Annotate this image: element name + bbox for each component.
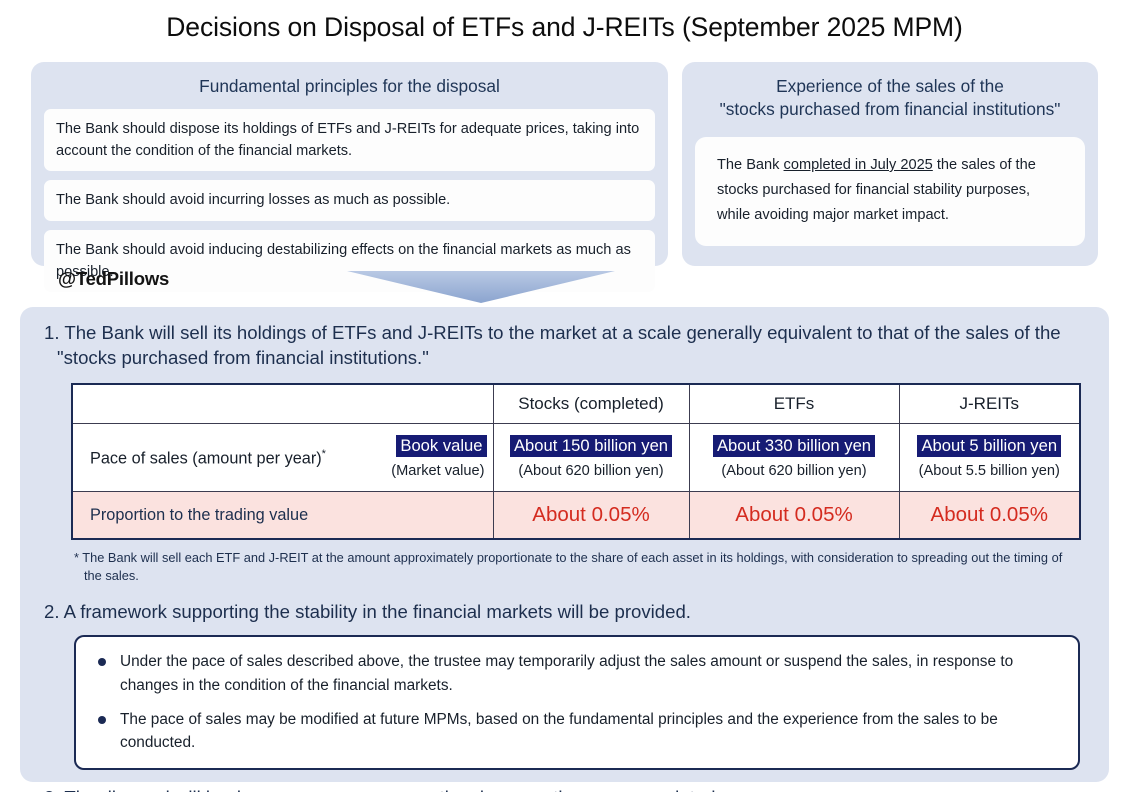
principle-card-2: The Bank should avoid incurring losses a… xyxy=(44,180,655,220)
pace-cell-stocks: About 150 billion yen (About 620 billion… xyxy=(493,424,689,492)
table-footnote: * The Bank will sell each ETF and J-REIT… xyxy=(74,549,1074,586)
framework-bullet-2-text: The pace of sales may be modified at fut… xyxy=(120,708,1058,756)
pace-cell-etfs: About 330 billion yen (About 620 billion… xyxy=(689,424,899,492)
book-value-highlight: Book value xyxy=(396,435,486,458)
pace-label-asterisk: * xyxy=(322,448,326,460)
table-header-blank xyxy=(72,384,493,424)
main-decisions-panel: 1. The Bank will sell its holdings of ET… xyxy=(20,307,1109,782)
bullet-dot-icon xyxy=(98,716,106,724)
top-panels-row: Fundamental principles for the disposal … xyxy=(31,62,1098,266)
table-header-jreits: J-REITs xyxy=(899,384,1080,424)
slide-canvas: Decisions on Disposal of ETFs and J-REIT… xyxy=(0,0,1129,792)
experience-heading-line1: Experience of the sales of the xyxy=(776,76,1004,96)
framework-bullet-1: Under the pace of sales described above,… xyxy=(98,650,1058,698)
pace-etfs-market-value: (About 620 billion yen) xyxy=(690,463,899,480)
table-row-proportion: Proportion to the trading value About 0.… xyxy=(72,492,1080,539)
proportion-etfs-value: About 0.05% xyxy=(689,492,899,539)
proportion-jreits-value: About 0.05% xyxy=(899,492,1080,539)
pace-etfs-book-value: About 330 billion yen xyxy=(713,435,875,458)
fundamental-principles-panel: Fundamental principles for the disposal … xyxy=(31,62,668,266)
pace-jreits-book-value: About 5 billion yen xyxy=(917,435,1061,458)
experience-of-sales-panel: Experience of the sales of the "stocks p… xyxy=(682,62,1098,266)
table-header-stocks: Stocks (completed) xyxy=(493,384,689,424)
proportion-stocks-value: About 0.05% xyxy=(493,492,689,539)
pace-stocks-market-value: (About 620 billion yen) xyxy=(494,463,689,480)
table-header-etfs: ETFs xyxy=(689,384,899,424)
framework-bullet-box: Under the pace of sales described above,… xyxy=(74,635,1080,771)
experience-heading-line2: "stocks purchased from financial institu… xyxy=(720,99,1061,119)
table-row-pace-of-sales: Pace of sales (amount per year)* Book va… xyxy=(72,424,1080,492)
pace-of-sales-label: Pace of sales (amount per year)* xyxy=(90,448,326,468)
book-market-value-stack: Book value (Market value) xyxy=(391,435,486,481)
down-arrow-icon xyxy=(347,269,615,303)
experience-card: The Bank completed in July 2025 the sale… xyxy=(695,137,1085,246)
proportion-label: Proportion to the trading value xyxy=(72,492,493,539)
table-header-row: Stocks (completed) ETFs J-REITs xyxy=(72,384,1080,424)
decision-item-2: 2. A framework supporting the stability … xyxy=(44,600,1085,625)
decision-item-1: 1. The Bank will sell its holdings of ET… xyxy=(44,321,1085,371)
pace-label-text: Pace of sales (amount per year) xyxy=(90,449,322,467)
pace-stocks-book-value: About 150 billion yen xyxy=(510,435,672,458)
principle-card-1: The Bank should dispose its holdings of … xyxy=(44,109,655,171)
framework-bullet-1-text: Under the pace of sales described above,… xyxy=(120,650,1058,698)
pace-jreits-market-value: (About 5.5 billion yen) xyxy=(900,463,1080,480)
pace-of-sales-label-cell: Pace of sales (amount per year)* Book va… xyxy=(72,424,493,492)
experience-heading: Experience of the sales of the "stocks p… xyxy=(695,75,1085,121)
page-title: Decisions on Disposal of ETFs and J-REIT… xyxy=(0,12,1129,43)
watermark-handle: @TedPillows xyxy=(58,268,169,290)
experience-text-underlined: completed in July 2025 xyxy=(784,157,933,173)
sales-pace-table: Stocks (completed) ETFs J-REITs Pace of … xyxy=(71,383,1081,540)
experience-text-pre: The Bank xyxy=(717,157,784,173)
bullet-dot-icon xyxy=(98,658,106,666)
decision-item-3: 3. The disposal will begin once necessar… xyxy=(44,786,1085,792)
fundamental-principles-heading: Fundamental principles for the disposal xyxy=(44,75,655,98)
pace-cell-jreits: About 5 billion yen (About 5.5 billion y… xyxy=(899,424,1080,492)
market-value-sublabel: (Market value) xyxy=(391,463,486,480)
framework-bullet-2: The pace of sales may be modified at fut… xyxy=(98,708,1058,756)
